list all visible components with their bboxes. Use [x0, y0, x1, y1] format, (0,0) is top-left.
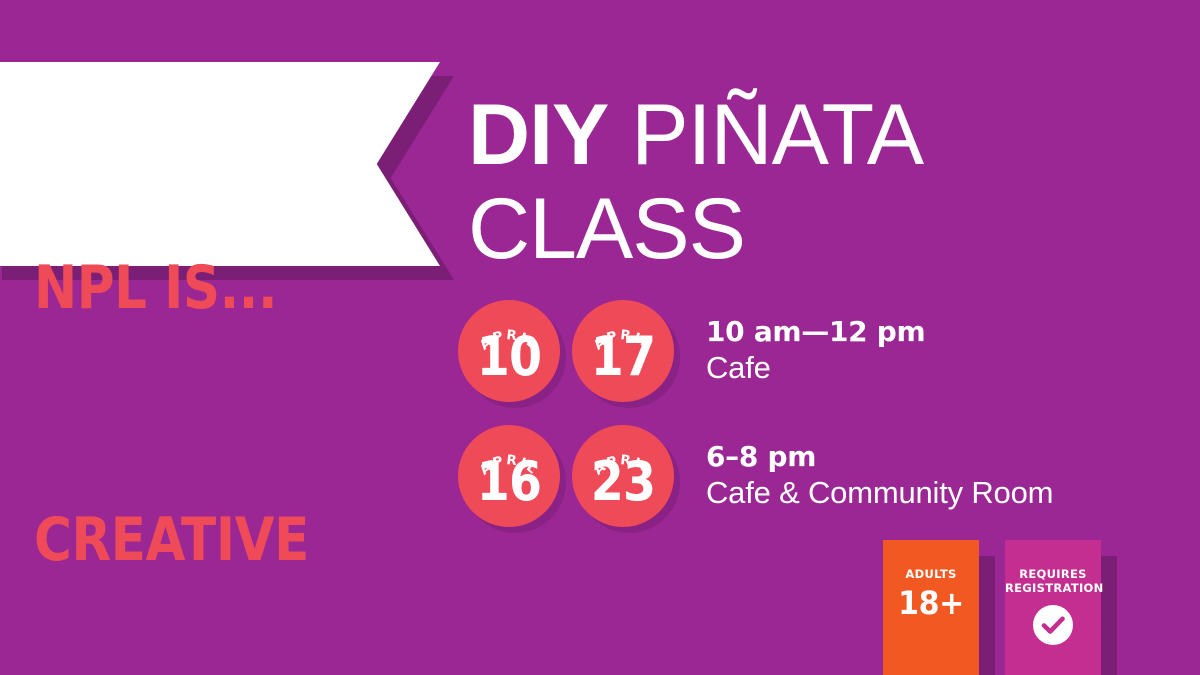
registration-badge-caption-line2: REGISTRATION — [1005, 581, 1101, 595]
session-info: 6–8 pm Cafe & Community Room — [706, 440, 1053, 512]
brand-banner: NPL IS... CREATIVE — [0, 62, 440, 266]
event-poster: NPL IS... CREATIVE DIY PIÑATA CLASS APRI… — [0, 0, 1200, 675]
age-restriction-badge: ADULTS 18+ — [883, 540, 979, 675]
page-title: DIY PIÑATA CLASS — [468, 88, 1168, 276]
page-title-strong: DIY — [468, 87, 608, 183]
date-badge: APRIL 17 — [572, 300, 674, 402]
check-circle-icon — [1033, 605, 1073, 645]
registration-badge-caption-line1: REQUIRES — [1005, 567, 1101, 581]
session-time: 10 am—12 pm — [706, 315, 925, 349]
session-place: Cafe — [706, 349, 925, 387]
age-badge-caption: ADULTS — [883, 567, 979, 581]
brand-banner-line1: NPL IS... — [34, 246, 326, 330]
date-badge-day: 17 — [578, 326, 668, 388]
date-badge-day: 16 — [464, 451, 554, 513]
brand-banner-text: NPL IS... CREATIVE — [34, 78, 326, 675]
age-badge-body: ADULTS 18+ — [883, 540, 979, 675]
date-badge: APRIL 10 — [458, 300, 560, 402]
session-time: 6–8 pm — [706, 440, 1053, 474]
registration-badge: REQUIRES REGISTRATION — [1005, 540, 1101, 675]
session-row: APRIL 10 APRIL 17 10 am—12 pm Cafe — [458, 300, 925, 402]
session-place: Cafe & Community Room — [706, 474, 1053, 512]
brand-banner-line2: CREATIVE — [34, 498, 326, 582]
date-badge-day: 10 — [464, 326, 554, 388]
date-badge: APRIL 23 — [572, 425, 674, 527]
date-badge-day: 23 — [578, 451, 668, 513]
session-info: 10 am—12 pm Cafe — [706, 315, 925, 387]
session-row: APRIL 16 APRIL 23 6–8 pm Cafe & Communit… — [458, 425, 1053, 527]
date-badge: APRIL 16 — [458, 425, 560, 527]
age-badge-value: 18+ — [886, 584, 976, 622]
registration-badge-body: REQUIRES REGISTRATION — [1005, 540, 1101, 675]
